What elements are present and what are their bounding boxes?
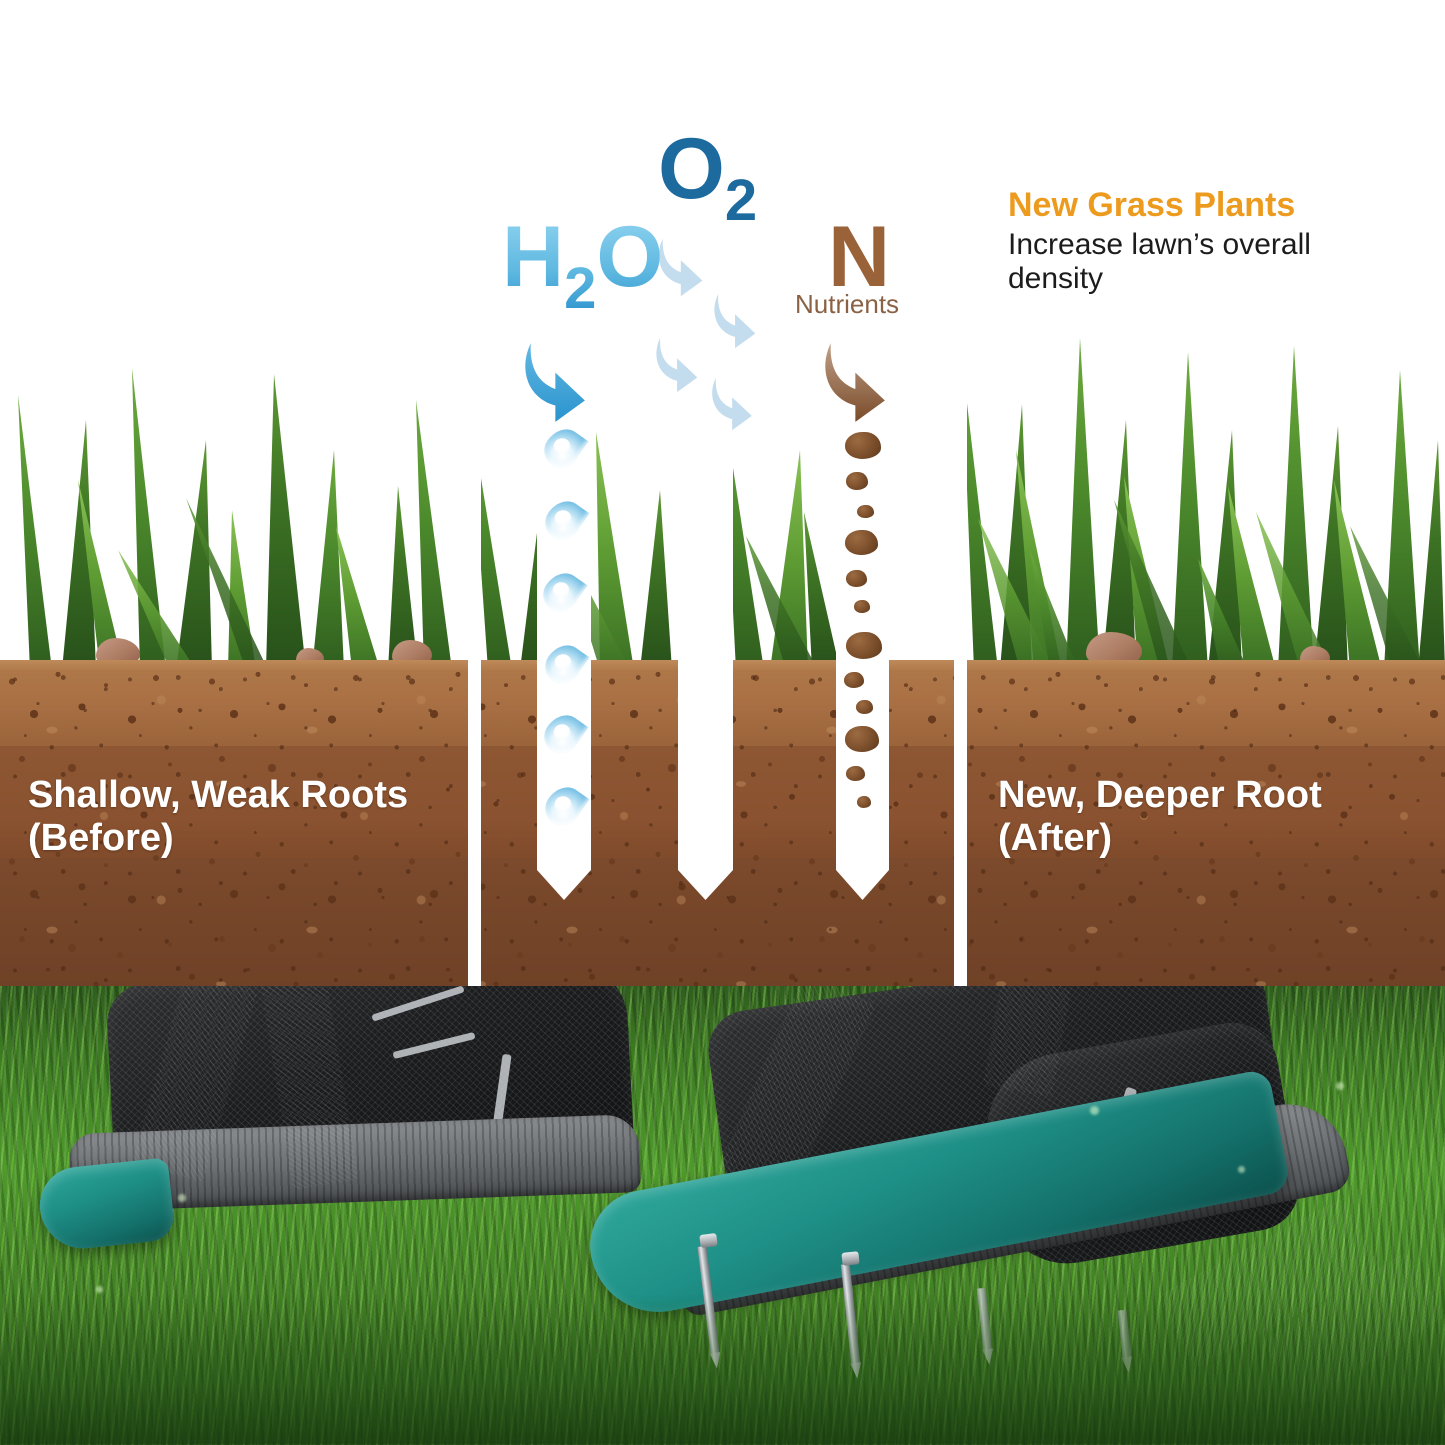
dew-drop — [178, 1194, 186, 1202]
aerator-spike-head — [841, 1251, 859, 1266]
infographic-root: How Aerator Shoes Work — [0, 0, 1445, 1445]
section-divider-right — [954, 322, 967, 986]
product-photo — [0, 986, 1445, 1445]
grass-left-sparse — [18, 368, 452, 670]
dew-drop — [1090, 1106, 1099, 1115]
section-divider-left — [468, 322, 481, 986]
illustration-panel: H2O O2 N Nutrients New Grass Plants Incr… — [0, 0, 1445, 986]
h2o-h: H — [502, 209, 564, 305]
before-root-label: Shallow, Weak Roots (Before) — [28, 774, 408, 859]
nutrient-pellet — [856, 700, 873, 714]
h2o-subscript: 2 — [564, 256, 596, 321]
nutrient-pellet — [845, 726, 879, 752]
nutrient-pellet — [846, 570, 867, 587]
nutrient-arrow-icon — [812, 336, 922, 446]
nutrient-pellet — [845, 530, 878, 555]
nutrient-pellet — [854, 600, 870, 613]
new-grass-callout-body: Increase lawn’s overall density — [1008, 228, 1378, 295]
aerator-spike-head — [699, 1233, 717, 1248]
oxygen-arrow-icon — [706, 366, 766, 432]
nutrient-pellet — [846, 632, 882, 659]
nutrients-caption: Nutrients — [795, 289, 899, 320]
o2-o: O — [658, 121, 725, 217]
nutrient-pellet — [846, 472, 868, 490]
dew-drop — [96, 1286, 103, 1293]
h2o-label: H2O — [502, 214, 663, 318]
o2-label: O2 — [658, 126, 757, 230]
h2o-o: O — [596, 209, 663, 305]
aerator-shoe-left — [40, 986, 680, 1286]
lawn-foreground-blur — [0, 1295, 1445, 1445]
nutrient-pellet — [846, 766, 865, 781]
dew-drop — [1238, 1166, 1245, 1173]
aerator-plate-left — [36, 1157, 176, 1252]
new-grass-callout-title: New Grass Plants — [1008, 186, 1295, 225]
nitrogen-label: N — [828, 214, 890, 300]
water-arrow-icon — [512, 336, 622, 446]
after-root-label: New, Deeper Root (After) — [998, 774, 1322, 859]
grass-right-dense — [962, 338, 1445, 670]
oxygen-arrow-icon — [650, 326, 712, 394]
nutrient-pellet — [857, 796, 871, 808]
nutrient-pellet — [844, 672, 864, 688]
oxygen-arrow-icon — [708, 282, 770, 350]
o2-subscript: 2 — [725, 168, 757, 233]
nutrient-pellet — [857, 505, 874, 518]
dew-drop — [1336, 1082, 1344, 1090]
